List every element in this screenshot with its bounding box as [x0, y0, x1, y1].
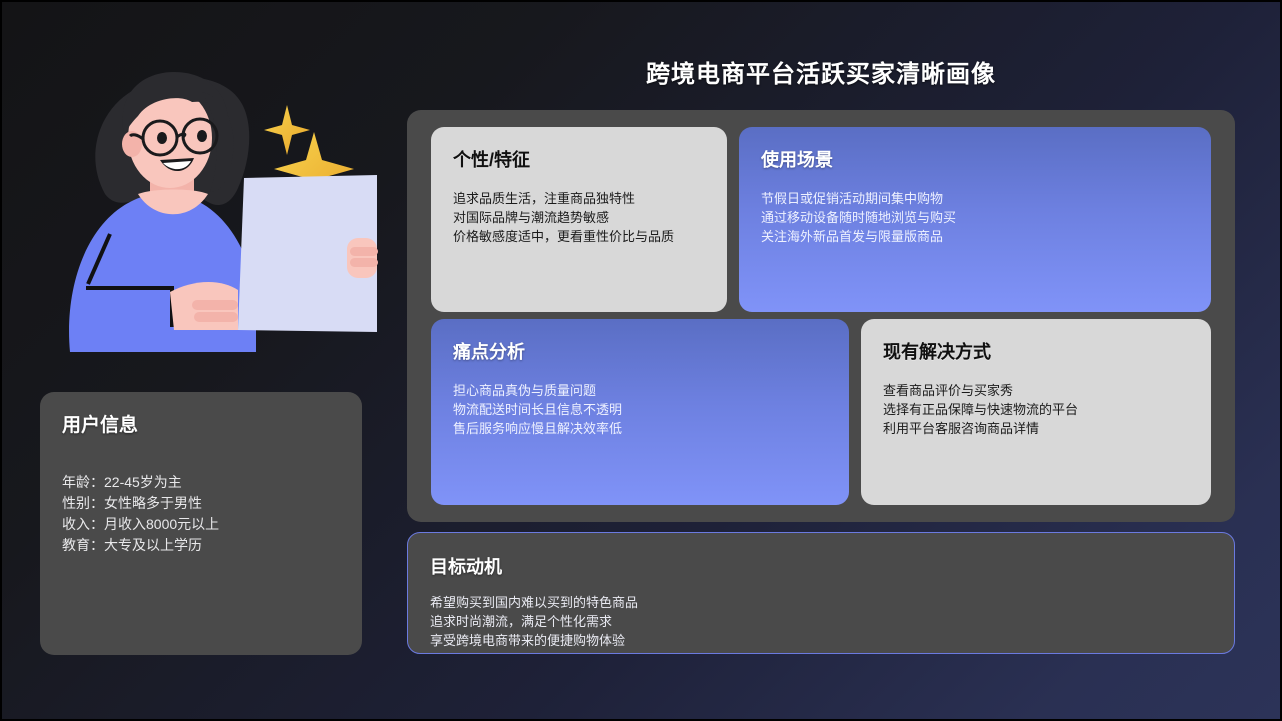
persona-cards-container: 个性/特征 追求品质生活，注重商品独特性 对国际品牌与潮流趋势敏感 价格敏感度适… — [407, 110, 1235, 522]
card-usage-scenarios: 使用场景 节假日或促销活动期间集中购物 通过移动设备随时随地浏览与购买 关注海外… — [739, 127, 1211, 312]
user-info-title: 用户信息 — [62, 410, 138, 437]
card-line: 享受跨境电商带来的便捷购物体验 — [430, 631, 1212, 650]
card-line: 通过移动设备随时随地浏览与购买 — [761, 208, 1189, 227]
card-title: 目标动机 — [430, 553, 1212, 579]
user-info-row-gender: 性别：女性略多于男性 — [62, 493, 219, 514]
card-line: 追求品质生活，注重商品独特性 — [453, 189, 705, 208]
card-line: 选择有正品保障与快速物流的平台 — [883, 400, 1189, 419]
card-line: 价格敏感度适中，更看重性价比与品质 — [453, 227, 705, 246]
card-line: 售后服务响应慢且解决效率低 — [453, 419, 827, 438]
card-line: 关注海外新品首发与限量版商品 — [761, 227, 1189, 246]
card-line: 查看商品评价与买家秀 — [883, 381, 1189, 400]
page-title: 跨境电商平台活跃买家清晰画像 — [407, 54, 1235, 89]
card-goals-motivations: 目标动机 希望购买到国内难以买到的特色商品 追求时尚潮流，满足个性化需求 享受跨… — [407, 532, 1235, 654]
user-info-panel: 用户信息 年龄：22-45岁为主 性别：女性略多于男性 收入：月收入8000元以… — [40, 392, 362, 655]
persona-board: 跨境电商平台活跃买家清晰画像 — [0, 0, 1282, 721]
card-line: 希望购买到国内难以买到的特色商品 — [430, 593, 1212, 612]
card-line: 节假日或促销活动期间集中购物 — [761, 189, 1189, 208]
card-body: 节假日或促销活动期间集中购物 通过移动设备随时随地浏览与购买 关注海外新品首发与… — [761, 189, 1189, 246]
card-line: 物流配送时间长且信息不透明 — [453, 400, 827, 419]
user-info-row-age: 年龄：22-45岁为主 — [62, 472, 219, 493]
hand-right — [347, 238, 378, 278]
hand-left — [170, 282, 238, 330]
card-body: 希望购买到国内难以买到的特色商品 追求时尚潮流，满足个性化需求 享受跨境电商带来… — [430, 593, 1212, 650]
card-title: 使用场景 — [761, 149, 1189, 171]
card-line: 担心商品真伪与质量问题 — [453, 381, 827, 400]
card-line: 追求时尚潮流，满足个性化需求 — [430, 612, 1212, 631]
card-personality-traits: 个性/特征 追求品质生活，注重商品独特性 对国际品牌与潮流趋势敏感 价格敏感度适… — [431, 127, 727, 312]
card-body: 查看商品评价与买家秀 选择有正品保障与快速物流的平台 利用平台客服咨询商品详情 — [883, 381, 1189, 438]
user-info-rows: 年龄：22-45岁为主 性别：女性略多于男性 收入：月收入8000元以上 教育：… — [62, 472, 219, 556]
card-body: 担心商品真伪与质量问题 物流配送时间长且信息不透明 售后服务响应慢且解决效率低 — [453, 381, 827, 438]
card-body: 追求品质生活，注重商品独特性 对国际品牌与潮流趋势敏感 价格敏感度适中，更看重性… — [453, 189, 705, 246]
card-line: 利用平台客服咨询商品详情 — [883, 419, 1189, 438]
card-existing-solutions: 现有解决方式 查看商品评价与买家秀 选择有正品保障与快速物流的平台 利用平台客服… — [861, 319, 1211, 505]
user-info-row-education: 教育：大专及以上学历 — [62, 535, 219, 556]
card-line: 对国际品牌与潮流趋势敏感 — [453, 208, 705, 227]
woman-with-document-illustration — [42, 42, 392, 352]
card-title: 现有解决方式 — [883, 341, 1189, 363]
card-title: 个性/特征 — [453, 149, 705, 171]
card-pain-points: 痛点分析 担心商品真伪与质量问题 物流配送时间长且信息不透明 售后服务响应慢且解… — [431, 319, 849, 505]
user-info-row-income: 收入：月收入8000元以上 — [62, 514, 219, 535]
card-title: 痛点分析 — [453, 341, 827, 363]
